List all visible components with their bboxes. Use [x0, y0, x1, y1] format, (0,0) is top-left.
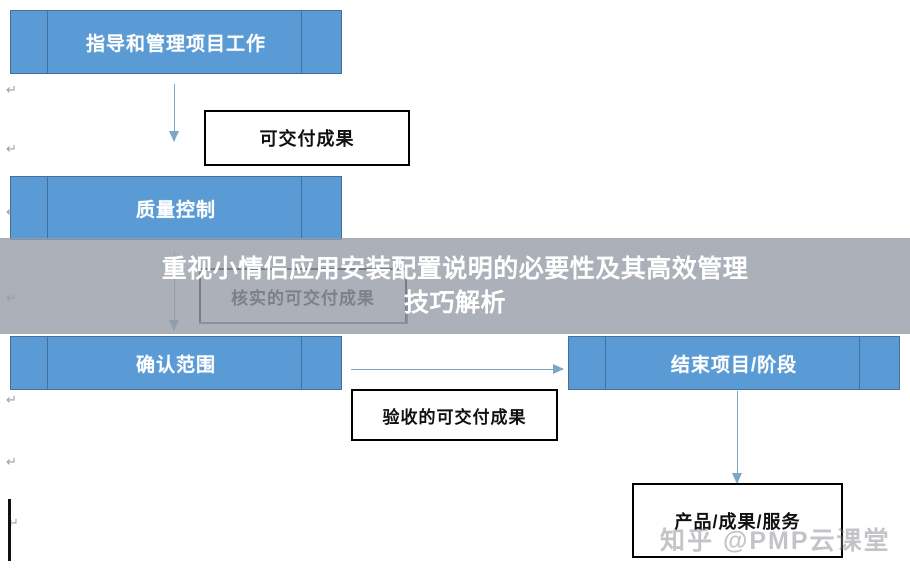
segment-divider-left — [605, 337, 606, 389]
process-box-quality-control-label: 质量控制 — [136, 195, 216, 222]
segment-divider-left — [47, 177, 48, 239]
output-box-deliverables[interactable]: 可交付成果 — [204, 110, 410, 166]
paragraph-mark-2: ↵ — [6, 141, 17, 157]
arrow-close-project-to-product — [737, 391, 738, 483]
watermark-text: 知乎 @PMP云课堂 — [660, 521, 891, 557]
process-box-validate-scope-label: 确认范围 — [136, 350, 216, 377]
segment-divider-right — [859, 337, 860, 389]
document-canvas: ↵ ↵ ↵ ↵ ↵ ↵ ↵ 指导和管理项目工作 可交付成果 质量控制 核实的可交… — [0, 0, 910, 570]
arrow-direct-manage-to-quality-control — [174, 84, 175, 141]
segment-divider-right — [301, 177, 302, 239]
overlay-headline-line-2: 技巧解析 — [55, 286, 855, 320]
paragraph-mark-1: ↵ — [6, 82, 17, 98]
text-cursor[interactable] — [8, 499, 11, 561]
process-box-validate-scope[interactable]: 确认范围 — [10, 336, 342, 390]
process-box-close-project-label: 结束项目/阶段 — [671, 350, 797, 377]
segment-divider-right — [301, 11, 302, 73]
segment-divider-left — [47, 11, 48, 73]
process-box-quality-control[interactable]: 质量控制 — [10, 176, 342, 240]
overlay-headline-line-1: 重视小情侣应用安装配置说明的必要性及其高效管理 — [55, 252, 855, 286]
segment-divider-right — [301, 337, 302, 389]
process-box-direct-manage[interactable]: 指导和管理项目工作 — [10, 10, 342, 74]
output-box-accepted-deliverables[interactable]: 验收的可交付成果 — [351, 389, 558, 441]
paragraph-mark-5: ↵ — [6, 392, 17, 408]
arrow-validate-scope-to-close-project — [351, 369, 563, 370]
output-box-deliverables-label: 可交付成果 — [260, 125, 355, 151]
overlay-banner: 重视小情侣应用安装配置说明的必要性及其高效管理 技巧解析 — [0, 238, 910, 334]
process-box-direct-manage-label: 指导和管理项目工作 — [86, 29, 266, 56]
output-box-accepted-deliverables-label: 验收的可交付成果 — [383, 403, 527, 428]
paragraph-mark-6: ↵ — [6, 454, 17, 470]
segment-divider-left — [47, 337, 48, 389]
process-box-close-project[interactable]: 结束项目/阶段 — [568, 336, 900, 390]
